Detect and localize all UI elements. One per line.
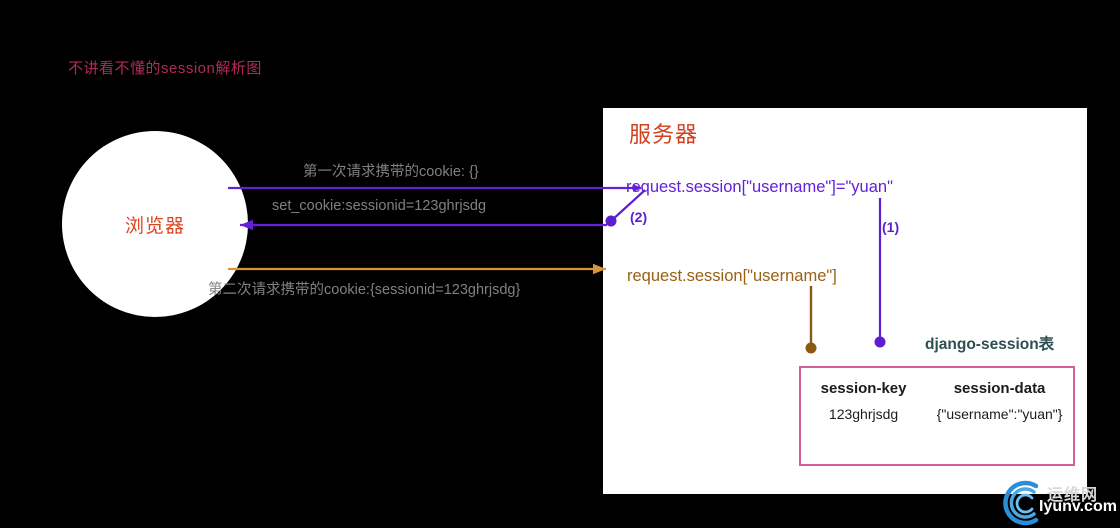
diagram-canvas: 不讲看不懂的session解析图 浏览器 服务器 request.session… [0,0,1120,528]
server-get-session-text: request.session["username"] [627,267,837,286]
table-row: 123ghrjsdg {"username":"yuan"} [801,399,1073,423]
flow-label-set-cookie: set_cookie:sessionid=123ghrjsdg [272,198,486,214]
watermark: 运维网 Iyunv.com [1003,480,1118,526]
browser-node-label: 浏览器 [125,211,185,238]
table-cell-session-key: 123ghrjsdg [801,399,926,423]
watermark-text-en: Iyunv.com [1039,498,1117,516]
table-header-row: session-key session-data [801,368,1073,399]
flow-label-second-request: 第二次请求携带的cookie:{sessionid=123ghrjsdg} [208,278,520,299]
session-table-caption: django-session表 [925,332,1054,354]
table-header-session-data: session-data [926,368,1073,399]
server-set-session-text: request.session["username"]="yuan" [626,178,893,197]
session-table: session-key session-data 123ghrjsdg {"us… [799,366,1075,466]
table-header-session-key: session-key [801,368,926,399]
flow-label-first-request: 第一次请求携带的cookie: {} [303,160,479,181]
page-title: 不讲看不懂的session解析图 [68,57,262,78]
table-cell-session-data: {"username":"yuan"} [926,399,1073,423]
step-marker-one: (1) [882,219,899,235]
server-node-title: 服务器 [629,117,698,149]
step-marker-two: (2) [630,209,647,225]
